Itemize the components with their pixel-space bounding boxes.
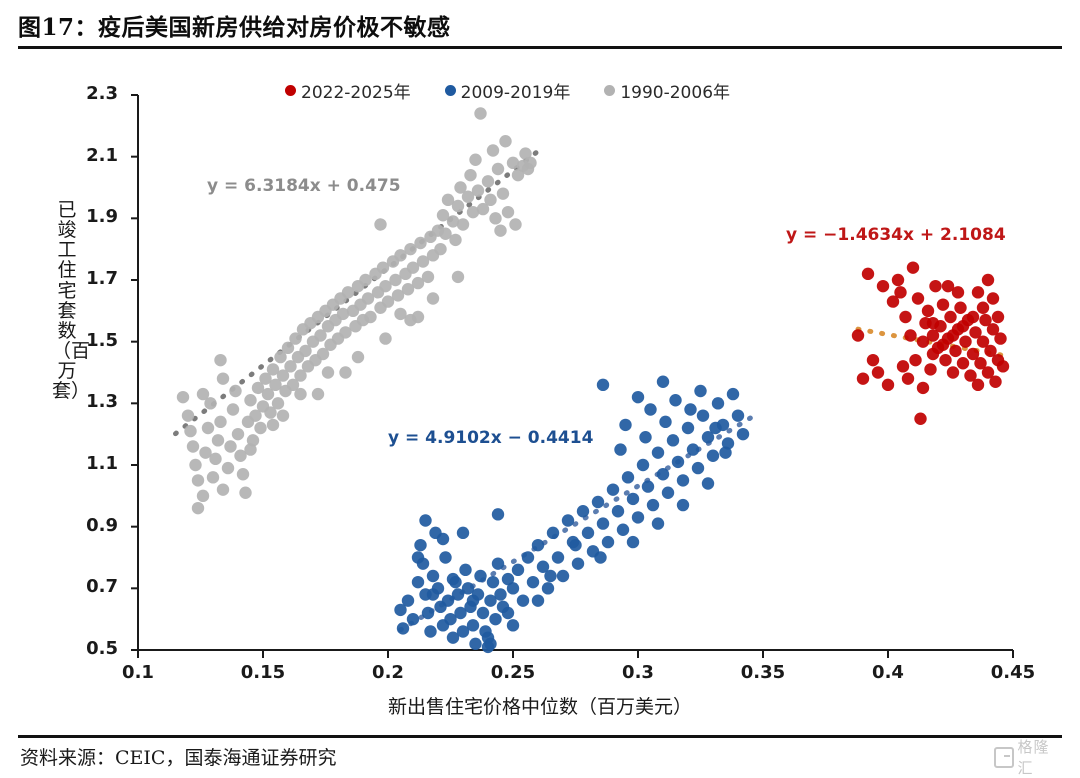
data-point bbox=[412, 551, 424, 563]
data-point bbox=[492, 557, 504, 569]
data-point bbox=[254, 422, 266, 434]
y-tick-label: 0.9 bbox=[70, 515, 118, 536]
data-point bbox=[552, 551, 564, 563]
data-point bbox=[572, 557, 584, 569]
data-point bbox=[709, 422, 721, 434]
source-note: 资料来源：CEIC，国泰海通证券研究 bbox=[20, 743, 336, 770]
data-point bbox=[632, 391, 644, 403]
x-tick-label: 0.4 bbox=[858, 662, 918, 683]
data-point bbox=[522, 551, 534, 563]
data-point bbox=[644, 403, 656, 415]
data-point bbox=[897, 360, 909, 372]
data-point bbox=[967, 311, 979, 323]
data-point bbox=[657, 376, 669, 388]
data-point bbox=[419, 514, 431, 526]
y-tick-label: 2.1 bbox=[70, 145, 118, 166]
data-point bbox=[212, 434, 224, 446]
data-point bbox=[997, 360, 1009, 372]
data-point bbox=[937, 339, 949, 351]
data-point bbox=[459, 564, 471, 576]
data-point bbox=[924, 363, 936, 375]
data-point bbox=[992, 311, 1004, 323]
data-point bbox=[322, 366, 334, 378]
data-point bbox=[909, 354, 921, 366]
data-point bbox=[904, 329, 916, 341]
data-point bbox=[239, 487, 251, 499]
data-point bbox=[452, 271, 464, 283]
annotation-gray-equation: y = 6.3184x + 0.475 bbox=[207, 176, 401, 196]
data-point bbox=[669, 394, 681, 406]
data-point bbox=[662, 487, 674, 499]
watermark-glyph-icon bbox=[994, 747, 1014, 768]
data-point bbox=[957, 357, 969, 369]
data-point bbox=[927, 317, 939, 329]
y-tick-label: 2.3 bbox=[70, 83, 118, 104]
data-point bbox=[427, 292, 439, 304]
chart-container: 2022-2025年 2009-2019年 1990-2006年 y = 6.3… bbox=[0, 52, 1080, 732]
data-point bbox=[684, 403, 696, 415]
y-tick-label: 1.1 bbox=[70, 453, 118, 474]
data-point bbox=[394, 308, 406, 320]
data-point bbox=[882, 379, 894, 391]
data-point bbox=[947, 366, 959, 378]
data-point bbox=[214, 354, 226, 366]
data-point bbox=[732, 409, 744, 421]
data-point bbox=[959, 335, 971, 347]
data-point bbox=[447, 573, 459, 585]
data-point bbox=[457, 527, 469, 539]
data-point bbox=[507, 619, 519, 631]
title-block: 图17：疫后美国新房供给对房价极不敏感 bbox=[18, 8, 1062, 48]
data-point bbox=[452, 200, 464, 212]
x-axis-title: 新出售住宅价格中位数（百万美元） bbox=[0, 692, 1080, 719]
data-point bbox=[594, 551, 606, 563]
data-point bbox=[512, 564, 524, 576]
data-point bbox=[557, 570, 569, 582]
data-point bbox=[244, 443, 256, 455]
data-point bbox=[902, 372, 914, 384]
data-point bbox=[637, 459, 649, 471]
data-point bbox=[312, 388, 324, 400]
data-point bbox=[577, 505, 589, 517]
data-point bbox=[517, 594, 529, 606]
data-point bbox=[412, 311, 424, 323]
data-point bbox=[422, 271, 434, 283]
data-point bbox=[852, 329, 864, 341]
data-point bbox=[277, 409, 289, 421]
data-point bbox=[569, 539, 581, 551]
data-point bbox=[224, 440, 236, 452]
title-divider bbox=[18, 46, 1062, 49]
data-point bbox=[177, 391, 189, 403]
data-point bbox=[872, 366, 884, 378]
y-tick-label: 1.5 bbox=[70, 330, 118, 351]
data-point bbox=[712, 397, 724, 409]
watermark-logo: 格隆汇 bbox=[994, 745, 1064, 769]
data-point bbox=[502, 206, 514, 218]
data-point bbox=[582, 527, 594, 539]
y-tick-label: 0.5 bbox=[70, 638, 118, 659]
data-point bbox=[614, 443, 626, 455]
data-point bbox=[484, 638, 496, 650]
data-point bbox=[937, 298, 949, 310]
data-point bbox=[524, 157, 536, 169]
data-point bbox=[617, 524, 629, 536]
data-point bbox=[424, 625, 436, 637]
data-point bbox=[489, 212, 501, 224]
data-point bbox=[957, 320, 969, 332]
data-point bbox=[727, 388, 739, 400]
data-point bbox=[867, 354, 879, 366]
data-point bbox=[192, 502, 204, 514]
page-title: 图17：疫后美国新房供给对房价极不敏感 bbox=[18, 8, 451, 42]
data-point bbox=[597, 379, 609, 391]
data-point bbox=[214, 416, 226, 428]
data-point bbox=[499, 135, 511, 147]
data-point bbox=[509, 218, 521, 230]
data-point bbox=[994, 332, 1006, 344]
series-1990-2006年 bbox=[177, 107, 537, 514]
data-point bbox=[989, 376, 1001, 388]
data-point bbox=[917, 335, 929, 347]
data-point bbox=[694, 385, 706, 397]
data-point bbox=[494, 588, 506, 600]
y-tick-label: 1.7 bbox=[70, 268, 118, 289]
data-point bbox=[899, 311, 911, 323]
data-point bbox=[972, 286, 984, 298]
data-point bbox=[184, 425, 196, 437]
data-point bbox=[939, 354, 951, 366]
data-point bbox=[474, 570, 486, 582]
data-point bbox=[472, 184, 484, 196]
data-point bbox=[484, 194, 496, 206]
data-point bbox=[182, 409, 194, 421]
data-point bbox=[232, 428, 244, 440]
data-point bbox=[907, 261, 919, 273]
data-point bbox=[657, 468, 669, 480]
data-point bbox=[492, 508, 504, 520]
x-tick-label: 0.45 bbox=[983, 662, 1043, 683]
data-point bbox=[697, 409, 709, 421]
data-point bbox=[469, 154, 481, 166]
data-point bbox=[927, 348, 939, 360]
data-point bbox=[502, 607, 514, 619]
data-point bbox=[677, 474, 689, 486]
data-point bbox=[942, 280, 954, 292]
data-point bbox=[352, 351, 364, 363]
data-point bbox=[977, 302, 989, 314]
data-point bbox=[652, 517, 664, 529]
data-point bbox=[237, 468, 249, 480]
data-point bbox=[427, 570, 439, 582]
data-point bbox=[189, 459, 201, 471]
data-point bbox=[562, 514, 574, 526]
data-point bbox=[877, 280, 889, 292]
data-point bbox=[497, 187, 509, 199]
data-point bbox=[437, 533, 449, 545]
data-point bbox=[379, 332, 391, 344]
data-point bbox=[422, 607, 434, 619]
data-point bbox=[894, 286, 906, 298]
data-point bbox=[607, 483, 619, 495]
data-point bbox=[217, 372, 229, 384]
data-point bbox=[857, 372, 869, 384]
data-point bbox=[439, 551, 451, 563]
data-point bbox=[719, 446, 731, 458]
annotation-red-equation: y = −1.4634x + 2.1084 bbox=[786, 225, 1006, 245]
data-point bbox=[407, 613, 419, 625]
source-divider bbox=[18, 735, 1062, 738]
data-point bbox=[414, 539, 426, 551]
data-point bbox=[272, 397, 284, 409]
data-point bbox=[612, 505, 624, 517]
data-point bbox=[467, 619, 479, 631]
figure-page: 图17：疫后美国新房供给对房价极不敏感 2022-2025年 2009-2019… bbox=[0, 0, 1080, 777]
data-point bbox=[487, 144, 499, 156]
data-point bbox=[427, 588, 439, 600]
data-point bbox=[642, 480, 654, 492]
data-point bbox=[467, 594, 479, 606]
data-point bbox=[464, 169, 476, 181]
data-point bbox=[364, 311, 376, 323]
data-point bbox=[917, 382, 929, 394]
data-point bbox=[672, 456, 684, 468]
data-point bbox=[929, 280, 941, 292]
data-point bbox=[412, 576, 424, 588]
annotation-blue-equation: y = 4.9102x − 0.4414 bbox=[388, 428, 593, 448]
data-point bbox=[542, 582, 554, 594]
data-point bbox=[619, 419, 631, 431]
data-point bbox=[339, 366, 351, 378]
data-point bbox=[507, 582, 519, 594]
data-point bbox=[944, 311, 956, 323]
data-point bbox=[687, 443, 699, 455]
data-point bbox=[532, 539, 544, 551]
watermark-text: 格隆汇 bbox=[1017, 736, 1064, 778]
data-point bbox=[244, 394, 256, 406]
data-point bbox=[487, 576, 499, 588]
y-axis-title: 已竣工住宅套数（百万套） bbox=[52, 200, 82, 401]
data-point bbox=[702, 477, 714, 489]
data-point bbox=[947, 329, 959, 341]
data-point bbox=[477, 607, 489, 619]
data-point bbox=[492, 163, 504, 175]
data-point bbox=[489, 613, 501, 625]
x-tick-label: 0.1 bbox=[108, 662, 168, 683]
data-point bbox=[187, 440, 199, 452]
data-point bbox=[434, 243, 446, 255]
data-point bbox=[647, 499, 659, 511]
data-point bbox=[862, 268, 874, 280]
scatter-plot bbox=[0, 52, 1080, 692]
data-point bbox=[954, 302, 966, 314]
data-point bbox=[482, 175, 494, 187]
data-point bbox=[982, 274, 994, 286]
data-point bbox=[229, 385, 241, 397]
x-tick-label: 0.35 bbox=[733, 662, 793, 683]
data-point bbox=[227, 403, 239, 415]
data-point bbox=[294, 388, 306, 400]
data-point bbox=[217, 483, 229, 495]
data-point bbox=[737, 428, 749, 440]
data-point bbox=[592, 496, 604, 508]
data-point bbox=[527, 576, 539, 588]
x-tick-label: 0.15 bbox=[233, 662, 293, 683]
data-point bbox=[397, 622, 409, 634]
data-point bbox=[207, 471, 219, 483]
x-tick-label: 0.25 bbox=[483, 662, 543, 683]
data-point bbox=[202, 422, 214, 434]
data-point bbox=[632, 511, 644, 523]
x-tick-label: 0.3 bbox=[608, 662, 668, 683]
data-point bbox=[972, 379, 984, 391]
data-point bbox=[912, 292, 924, 304]
data-point bbox=[622, 471, 634, 483]
x-tick-label: 0.2 bbox=[358, 662, 418, 683]
data-point bbox=[677, 499, 689, 511]
data-point bbox=[682, 422, 694, 434]
data-point bbox=[602, 536, 614, 548]
data-point bbox=[547, 527, 559, 539]
data-point bbox=[987, 292, 999, 304]
data-point bbox=[494, 224, 506, 236]
data-point bbox=[949, 345, 961, 357]
data-point bbox=[627, 493, 639, 505]
data-point bbox=[197, 490, 209, 502]
data-point bbox=[402, 594, 414, 606]
data-point bbox=[544, 570, 556, 582]
series-2009-2019年 bbox=[394, 376, 749, 654]
y-tick-label: 1.3 bbox=[70, 391, 118, 412]
y-tick-label: 1.9 bbox=[70, 206, 118, 227]
data-point bbox=[374, 218, 386, 230]
y-tick-label: 0.7 bbox=[70, 576, 118, 597]
data-point bbox=[474, 107, 486, 119]
data-point bbox=[197, 388, 209, 400]
data-point bbox=[192, 474, 204, 486]
data-point bbox=[532, 594, 544, 606]
data-point bbox=[659, 416, 671, 428]
data-point bbox=[469, 638, 481, 650]
data-point bbox=[922, 305, 934, 317]
data-point bbox=[667, 434, 679, 446]
data-point bbox=[457, 218, 469, 230]
data-point bbox=[652, 446, 664, 458]
data-point bbox=[692, 462, 704, 474]
data-point bbox=[914, 413, 926, 425]
data-point bbox=[707, 450, 719, 462]
data-point bbox=[639, 431, 651, 443]
data-point bbox=[222, 462, 234, 474]
data-point bbox=[267, 419, 279, 431]
data-point bbox=[627, 536, 639, 548]
data-point bbox=[892, 274, 904, 286]
data-point bbox=[449, 234, 461, 246]
data-point bbox=[209, 453, 221, 465]
data-point bbox=[597, 517, 609, 529]
